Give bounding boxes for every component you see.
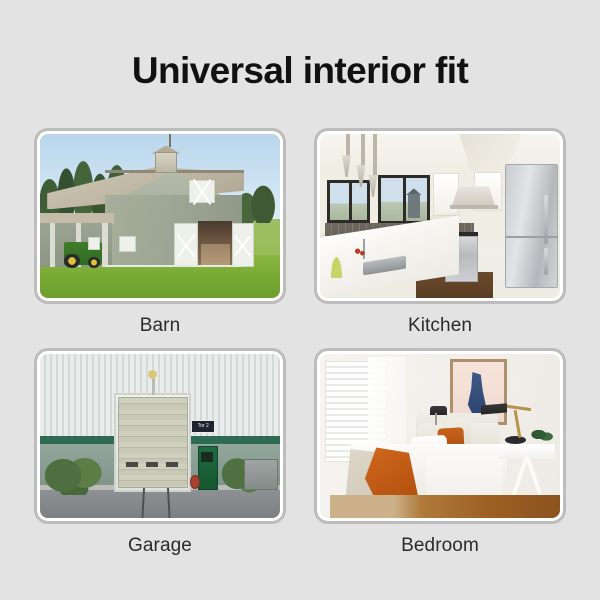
- pendant-cord: [346, 134, 350, 157]
- door-window: [201, 452, 213, 462]
- card-caption-bedroom: Bedroom: [401, 535, 479, 557]
- barn-interior-light: [201, 244, 230, 265]
- wall-sconce-stem: [435, 413, 437, 424]
- wall-sconce-shade: [430, 406, 447, 414]
- upper-cabinet: [433, 173, 459, 216]
- decor-plant: [327, 242, 346, 278]
- grid-cell-barn: Barn: [34, 128, 286, 338]
- page-title: Universal interior fit: [0, 50, 600, 92]
- range-hood-base: [450, 205, 498, 210]
- fridge-door-split: [505, 236, 558, 238]
- garage-photo: Tor 2: [40, 354, 280, 518]
- gate-number-sign: Tor 2: [191, 420, 215, 433]
- shrub-left: [45, 446, 105, 495]
- card-caption-barn: Barn: [140, 315, 181, 337]
- shed-post: [50, 223, 55, 267]
- weathervane: [169, 134, 171, 147]
- decor-flowers: [354, 246, 366, 259]
- image-card-barn[interactable]: [34, 128, 286, 304]
- pendant-cord: [361, 134, 365, 167]
- freezer-handle: [544, 248, 548, 275]
- image-card-bedroom[interactable]: [314, 348, 566, 524]
- cupola: [155, 152, 177, 173]
- kitchen-window-right: [378, 175, 431, 224]
- neighbor-house: [408, 194, 420, 218]
- image-card-kitchen[interactable]: [314, 128, 566, 304]
- foundation-trim: [105, 265, 242, 267]
- jute-rug: [330, 495, 560, 518]
- card-caption-garage: Garage: [128, 535, 192, 557]
- kitchen-photo: [320, 134, 560, 298]
- image-card-garage[interactable]: Tor 2: [34, 348, 286, 524]
- rollup-door: [118, 397, 188, 489]
- bedroom-photo: [320, 354, 560, 518]
- card-caption-kitchen: Kitchen: [408, 315, 472, 337]
- hay-loft-door: [189, 180, 215, 203]
- shed-post: [102, 223, 107, 267]
- grid-cell-kitchen: Kitchen: [314, 128, 566, 338]
- tractor-wheel: [64, 254, 80, 269]
- stainless-refrigerator: [505, 164, 558, 289]
- range-hood: [452, 186, 495, 206]
- grid-cell-bedroom: Bedroom: [314, 348, 566, 558]
- barn-sliding-door: [174, 223, 198, 267]
- door-markings: [126, 462, 179, 467]
- barn-sliding-door: [232, 223, 254, 267]
- gate-number-sign-text: Tor 2: [198, 423, 209, 429]
- window-mullion: [349, 183, 352, 220]
- potted-plant: [529, 426, 553, 442]
- kitchen-window-left: [327, 180, 370, 223]
- pendant-cord: [373, 134, 377, 177]
- barn-window: [119, 236, 136, 252]
- window-mullion: [403, 178, 406, 221]
- promo-page: Universal interior fit: [0, 0, 600, 600]
- grid-cell-garage: Tor 2 Garage: [34, 348, 286, 558]
- dumpster: [244, 459, 278, 490]
- image-grid: Barn: [34, 128, 566, 558]
- barn-photo: [40, 134, 280, 298]
- barn-window: [88, 237, 100, 250]
